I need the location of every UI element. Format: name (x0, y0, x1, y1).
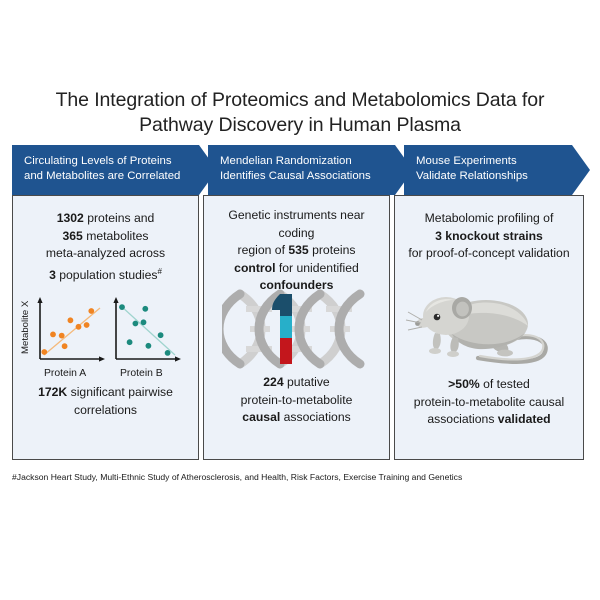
scatter-1-x-label: Protein A (44, 368, 86, 379)
step-header-1-line-1: Circulating Levels of Proteins (24, 154, 205, 169)
footnote: #Jackson Heart Study, Multi-Ethnic Study… (12, 472, 588, 483)
mouse-art (395, 276, 583, 374)
step-header-1-line-2: and Metabolites are Correlated (24, 169, 205, 184)
step-header-1: Circulating Levels of Proteins and Metab… (12, 145, 217, 195)
step-panel-3: Metabolomic profiling of3 knockout strai… (394, 195, 584, 460)
step-1-top-text: 1302 proteins and365 metabolitesmeta-ana… (13, 210, 198, 284)
step-panel-row: 1302 proteins and365 metabolitesmeta-ana… (12, 195, 590, 460)
page-title: The Integration of Proteomics and Metabo… (0, 88, 600, 138)
step-header-3-line-1: Mouse Experiments (416, 154, 578, 169)
step-header-row: Circulating Levels of Proteins and Metab… (12, 145, 590, 195)
title-line-2: Pathway Discovery in Human Plasma (0, 113, 600, 138)
step-header-3: Mouse Experiments Validate Relationships (404, 145, 590, 195)
step-2-top-text: Genetic instruments near codingregion of… (204, 207, 389, 295)
dna-helix-icon (222, 288, 372, 370)
infographic-root: The Integration of Proteomics and Metabo… (0, 0, 600, 600)
step-header-2: Mendelian Randomization Identifies Causa… (208, 145, 413, 195)
step-header-2-line-1: Mendelian Randomization (220, 154, 401, 169)
dna-helix-art (204, 288, 389, 374)
step-1-bottom-text: 172K significant pairwisecorrelations (13, 384, 198, 419)
title-line-1: The Integration of Proteomics and Metabo… (56, 89, 545, 111)
step-3-top-text: Metabolomic profiling of3 knockout strai… (395, 210, 583, 263)
mouse-icon (404, 276, 574, 372)
step-header-2-line-2: Identifies Causal Associations (220, 169, 401, 184)
scatter-y-label: Metabolite X (20, 300, 31, 354)
correlation-scatter-art: Metabolite X P (13, 296, 198, 384)
scatter-plots-svg: Metabolite X P (18, 296, 194, 382)
step-3-bottom-text: >50% of testedprotein-to-metabolite caus… (395, 376, 583, 429)
step-2-bottom-text: 224 putativeprotein-to-metabolitecausal … (204, 374, 389, 427)
step-panel-2: Genetic instruments near codingregion of… (203, 195, 390, 460)
step-panel-1: 1302 proteins and365 metabolitesmeta-ana… (12, 195, 199, 460)
step-header-3-line-2: Validate Relationships (416, 169, 578, 184)
scatter-2-x-label: Protein B (120, 368, 163, 379)
